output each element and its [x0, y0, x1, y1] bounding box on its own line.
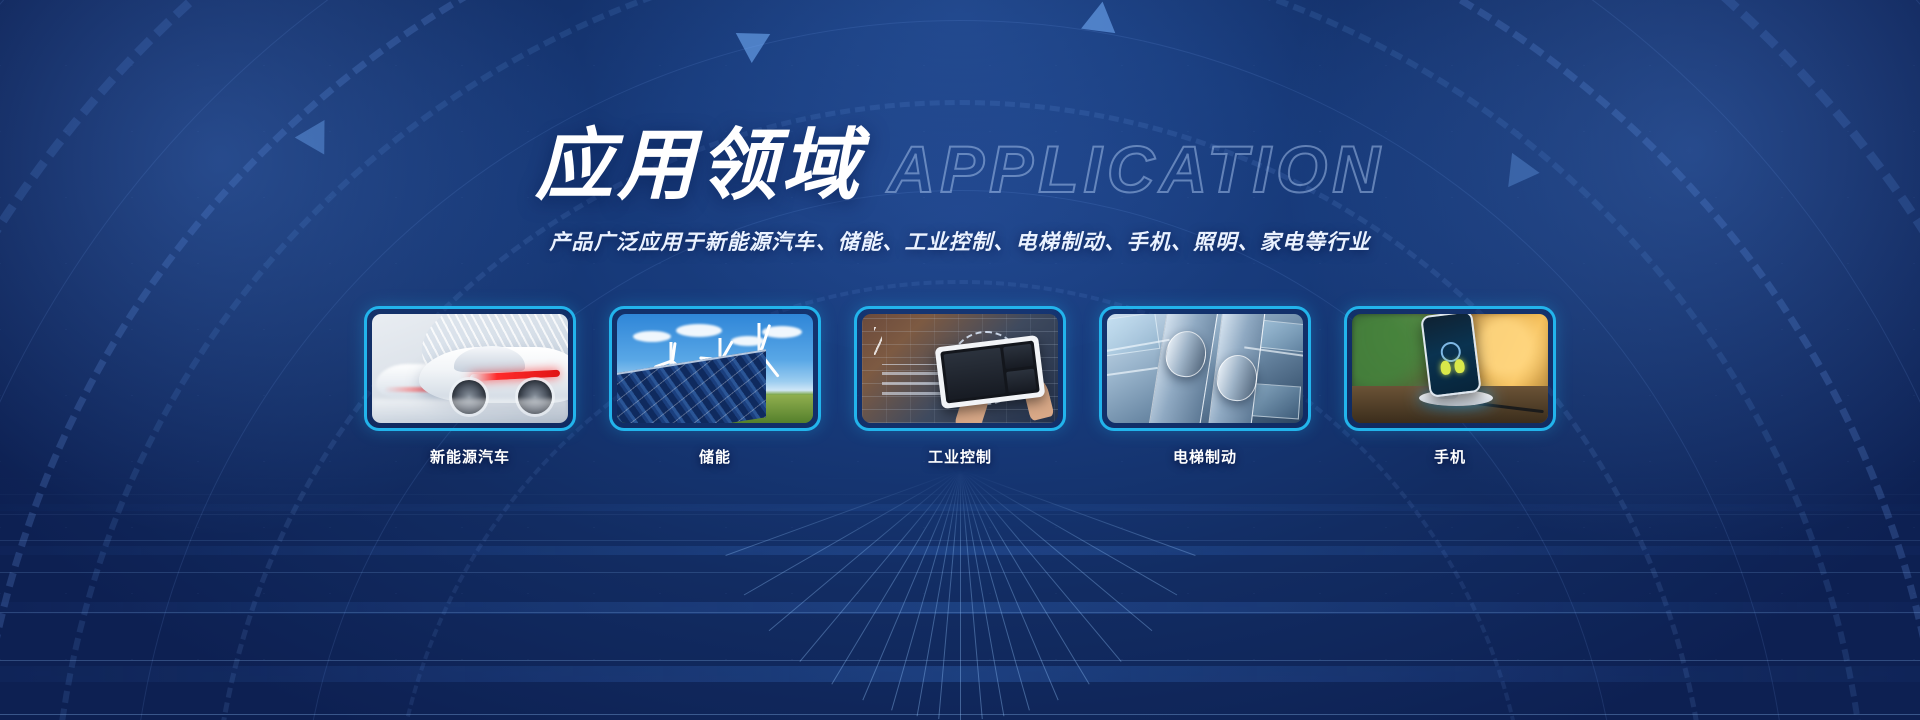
- perspective-floor-grid: [0, 470, 1920, 720]
- industrial-control-tablet-photo: [862, 314, 1058, 423]
- card-frame[interactable]: [1344, 306, 1556, 431]
- banner-subtitle: 产品广泛应用于新能源汽车、储能、工业控制、电梯制动、手机、照明、家电等行业: [0, 226, 1920, 256]
- phone-wireless-charger-photo: [1352, 314, 1548, 423]
- banner-heading: 应用领域 APPLICATION: [0, 126, 1920, 204]
- application-card-industrial-control[interactable]: 工业控制: [854, 306, 1066, 467]
- card-label: 手机: [1344, 446, 1556, 467]
- application-card-mobile-phone[interactable]: 手机: [1344, 306, 1556, 467]
- solar-wind-energy-photo: [617, 314, 813, 423]
- application-card-energy-storage[interactable]: 储能: [609, 306, 821, 467]
- page-title-english: APPLICATION: [888, 136, 1385, 202]
- application-card-elevator-brake[interactable]: 电梯制动: [1099, 306, 1311, 467]
- title-line: 应用领域 APPLICATION: [535, 126, 1385, 204]
- card-label: 工业控制: [854, 446, 1066, 467]
- arc-marker-triangle-left: [736, 19, 778, 63]
- card-label: 新能源汽车: [364, 446, 576, 467]
- glass-elevator-shaft-photo: [1107, 314, 1303, 423]
- card-frame[interactable]: [1099, 306, 1311, 431]
- card-label: 储能: [609, 446, 821, 467]
- card-frame[interactable]: [854, 306, 1066, 431]
- card-frame[interactable]: [609, 306, 821, 431]
- application-card-ev[interactable]: 新能源汽车: [364, 306, 576, 467]
- arc-marker-triangle-right: [1075, 2, 1116, 45]
- card-frame[interactable]: [364, 306, 576, 431]
- card-label: 电梯制动: [1099, 446, 1311, 467]
- glow-right: [1280, 0, 1920, 560]
- application-banner: 应用领域 APPLICATION 产品广泛应用于新能源汽车、储能、工业控制、电梯…: [0, 0, 1920, 720]
- application-card-list: 新能源汽车: [0, 306, 1920, 467]
- ev-sports-car-photo: [372, 314, 568, 423]
- page-title: 应用领域: [535, 126, 863, 204]
